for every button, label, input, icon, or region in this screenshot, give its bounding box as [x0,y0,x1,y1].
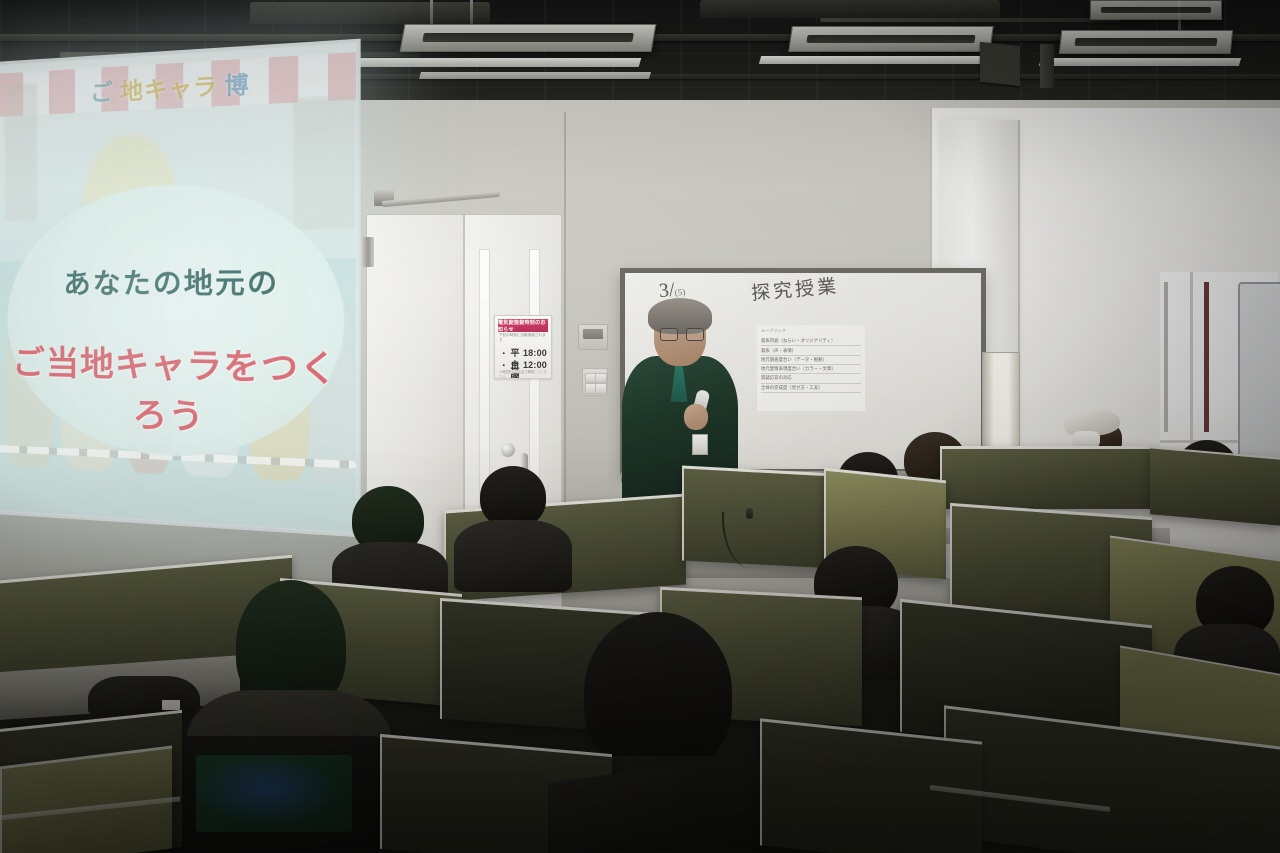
carrel-partition [940,446,1152,509]
slide-banner-suffix: 博 [224,66,249,102]
pouch-tag [162,700,180,711]
whiteboard-date-small: (5) [674,287,685,298]
window-blind-cord[interactable] [1164,282,1168,432]
projected-block-row: 地元調査度合い（データ・根拠） [761,356,861,365]
slide-subhead: ご当地キャラをつくろう [8,335,344,445]
window-blind-cord[interactable] [1204,282,1209,432]
presenter-name-badge [692,434,708,455]
whiteboard-projected-text-block: ルーブリック 発表内容（ねらい・オリジナリティ） 発表（声・表情） 地元調査度合… [757,325,865,411]
carrel-partition [760,718,982,853]
ceiling-pipe [820,18,1120,22]
ceiling-vane [419,72,651,79]
projection-screen: ご 地キャラ 博 あなたの地元の ご当地キャラをつくろう [0,39,361,538]
pencil-pouch [88,676,200,718]
carrel-partition [1150,446,1280,526]
ceiling-ac-unit [1090,0,1222,20]
sign-time-weekday: 18:00 [523,348,547,358]
light-switch[interactable] [595,373,606,384]
ceiling-duct [250,2,490,24]
slide-banner-prefix: ご [90,74,114,108]
door-knob[interactable] [501,443,515,457]
classroom-lecture-photo: ご 地キャラ 博 あなたの地元の ご当地キャラをつくろう [0,0,1280,853]
ceiling-ac-unit [1059,30,1234,54]
control-panel-display [583,329,603,339]
slide-photo-shape [4,83,37,222]
ceiling-fixture [980,42,1020,86]
slide-headline: あなたの地元の [8,260,344,303]
projected-block-row: 質疑応答の対応 [761,374,861,383]
backpack [166,736,382,853]
projected-block-row: 地元愛情表現度合い（カラー・文章） [761,365,861,374]
sign-header: 電気錠施錠時刻のお知らせ [498,319,548,332]
ceiling-duct [700,0,1000,18]
projected-slide: ご 地キャラ 博 あなたの地元の ご当地キャラをつくろう [0,43,356,532]
audience-body [454,520,572,592]
projected-block-row: 発表内容（ねらい・オリジナリティ） [761,337,861,346]
whiteboard-handwriting-title: 探究授業 [750,271,840,306]
ceiling-ac-unit [400,24,657,52]
wall-control-panel[interactable] [578,324,608,350]
backpack-pattern [196,755,352,832]
foreground-student-head [584,612,732,772]
sign-footer: ※時間外は学生証で解錠してください [499,369,547,375]
audience-head [480,466,546,528]
ceiling-ac-unit [788,26,994,52]
slide-photo-shape [294,95,356,229]
ceiling-vane [329,58,642,67]
ceiling-pipe [1040,44,1054,88]
projected-block-row: 全体の完成度（見せ方・工夫） [761,384,861,393]
door-hinge [362,237,374,267]
projected-block-row: 発表（声・表情） [761,346,861,355]
ceiling-vane [759,56,1001,64]
glasses-icon [660,328,702,339]
slide-banner-mid: 地キャラ [120,68,218,107]
light-switch-plate[interactable] [582,368,608,396]
presenter-hand [684,404,708,430]
light-switch[interactable] [595,383,606,394]
sign-subnote: 下記の時刻に自動施錠されます [499,335,547,341]
projected-block-header: ルーブリック [761,328,861,334]
ceiling-vane [1039,58,1241,66]
microphone-icon [746,508,753,519]
door-notice-sign: 電気錠施錠時刻のお知らせ 下記の時刻に自動施錠されます ・ 平日 18:00 ・… [494,315,552,379]
